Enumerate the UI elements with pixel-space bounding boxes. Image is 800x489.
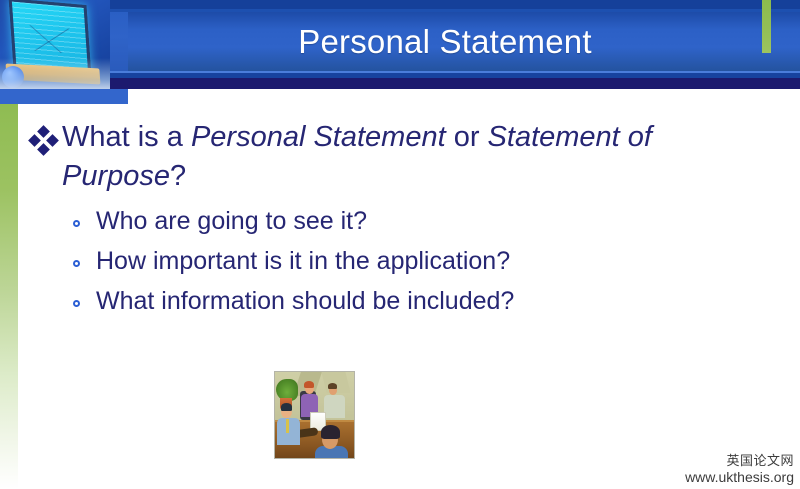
clipart-person-tie <box>286 419 289 433</box>
slide-title: Personal Statement <box>128 16 762 68</box>
main-bullet-seg-2: or <box>446 121 488 153</box>
sub-bullet-item: What information should be included? <box>70 287 776 317</box>
header-band-bottom <box>0 78 800 89</box>
meeting-illustration <box>274 371 355 459</box>
slide-header: Personal Statement <box>0 0 800 89</box>
header-green-accent-tab <box>762 0 771 53</box>
sub-bullet-text: How important is it in the application? <box>96 247 776 276</box>
left-green-accent-strip <box>0 104 18 489</box>
sub-bullet-text: What information should be included? <box>96 287 776 316</box>
clipart-person-hair <box>328 383 337 389</box>
clipart-person-hair <box>321 425 340 439</box>
main-bullet-seg-1: Personal Statement <box>191 121 446 153</box>
sub-bullet-text: Who are going to see it? <box>96 207 776 236</box>
sub-bullet-item: How important is it in the application? <box>70 247 776 277</box>
screen-graph-lines <box>22 25 75 54</box>
clipart-person-hair <box>281 403 293 411</box>
main-bullet-item: What is a Personal Statement or Statemen… <box>30 118 776 195</box>
slide-canvas: Personal Statement What is a Personal St… <box>0 0 800 489</box>
watermark-chinese-text: 英国论文网 <box>685 454 794 469</box>
computer-monitor-image <box>0 0 110 89</box>
watermark: 英国论文网 www.ukthesis.org <box>685 454 794 485</box>
hollow-circle-bullet-icon <box>70 287 96 317</box>
sub-bullet-list: Who are going to see it? How important i… <box>70 207 776 317</box>
watermark-url: www.ukthesis.org <box>685 469 794 485</box>
header-band-top <box>0 0 800 9</box>
hollow-circle-bullet-icon <box>70 207 96 237</box>
corner-image-haze <box>0 58 110 89</box>
diamond-cluster-bullet-icon <box>30 127 62 161</box>
corner-blue-bar <box>0 89 128 104</box>
main-bullet-seg-4: ? <box>170 160 186 192</box>
main-bullet-text: What is a Personal Statement or Statemen… <box>62 118 776 195</box>
hollow-circle-bullet-icon <box>70 247 96 277</box>
sub-bullet-item: Who are going to see it? <box>70 207 776 237</box>
main-bullet-seg-0: What is a <box>62 121 191 153</box>
clipart-person-body <box>324 395 345 417</box>
slide-body: What is a Personal Statement or Statemen… <box>30 118 776 327</box>
clipart-person-hair <box>304 381 314 388</box>
